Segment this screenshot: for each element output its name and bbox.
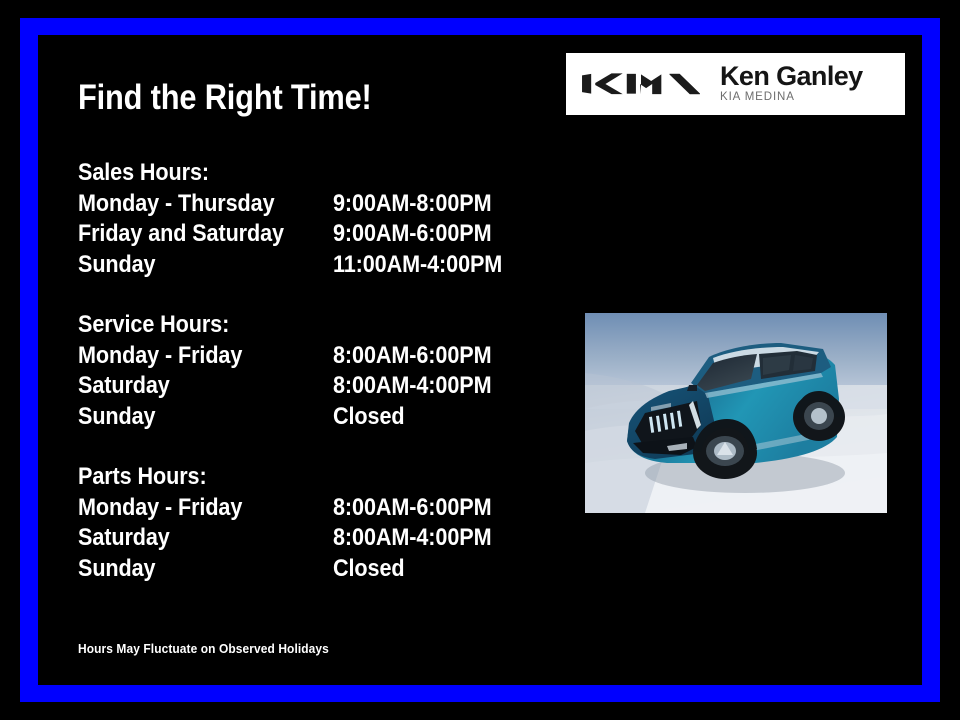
dealer-name: Ken Ganley: [720, 62, 891, 90]
hours-row: Monday - Friday8:00AM-6:00PM: [78, 341, 538, 372]
hours-row-day: Saturday: [78, 523, 308, 554]
section-heading: Service Hours:: [78, 310, 492, 341]
page-title: Find the Right Time!: [78, 78, 372, 118]
hours-row-time: 9:00AM-6:00PM: [333, 219, 491, 250]
hours-row-day: Sunday: [78, 402, 308, 433]
section-heading: Sales Hours:: [78, 158, 492, 189]
vehicle-photo: [585, 313, 887, 513]
hours-row-day: Sunday: [78, 554, 308, 585]
hours-row: Sunday11:00AM-4:00PM: [78, 250, 538, 281]
hours-row: SundayClosed: [78, 402, 538, 433]
hours-section-parts: Parts Hours: Monday - Friday8:00AM-6:00P…: [78, 462, 538, 584]
dealer-logo-plate: Ken Ganley KIA MEDINA: [566, 53, 905, 115]
hours-row-day: Saturday: [78, 371, 308, 402]
hours-row-time: 8:00AM-6:00PM: [333, 341, 491, 372]
hours-row-day: Monday - Thursday: [78, 189, 308, 220]
hours-section-sales: Sales Hours: Monday - Thursday9:00AM-8:0…: [78, 158, 538, 280]
hours-row-time: 11:00AM-4:00PM: [333, 250, 502, 281]
kia-logo-icon: [580, 67, 702, 101]
hours-row-day: Monday - Friday: [78, 341, 308, 372]
hours-row: Saturday8:00AM-4:00PM: [78, 371, 538, 402]
hours-row-time: 8:00AM-6:00PM: [333, 493, 491, 524]
hours-row: Monday - Thursday9:00AM-8:00PM: [78, 189, 538, 220]
hours-row: SundayClosed: [78, 554, 538, 585]
hours-row: Monday - Friday8:00AM-6:00PM: [78, 493, 538, 524]
hours-row-time: 9:00AM-8:00PM: [333, 189, 491, 220]
slide-canvas: Find the Right Time! Ken Ganley KIA MEDI…: [0, 0, 960, 720]
hours-row-time: Closed: [333, 402, 404, 433]
hours-row-time: Closed: [333, 554, 404, 585]
hours-row-day: Sunday: [78, 250, 308, 281]
hours-row-day: Monday - Friday: [78, 493, 308, 524]
hours-row: Friday and Saturday9:00AM-6:00PM: [78, 219, 538, 250]
dealer-sub-name: KIA MEDINA: [720, 90, 891, 104]
hours-row-day: Friday and Saturday: [78, 219, 308, 250]
hours-block: Sales Hours: Monday - Thursday9:00AM-8:0…: [78, 158, 538, 584]
hours-row-time: 8:00AM-4:00PM: [333, 523, 491, 554]
dealer-name-group: Ken Ganley KIA MEDINA: [720, 62, 891, 106]
hours-row-time: 8:00AM-4:00PM: [333, 371, 491, 402]
holiday-disclaimer: Hours May Fluctuate on Observed Holidays: [78, 641, 329, 657]
section-heading: Parts Hours:: [78, 462, 492, 493]
hours-section-service: Service Hours: Monday - Friday8:00AM-6:0…: [78, 310, 538, 432]
hours-row: Saturday8:00AM-4:00PM: [78, 523, 538, 554]
